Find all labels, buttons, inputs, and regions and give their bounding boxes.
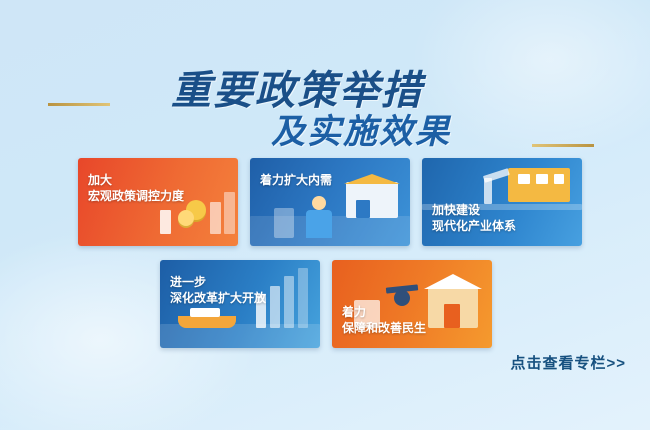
cards-row-top: 加大 宏观政策调控力度 着力扩大内需 加快建设 现代化产业体系 xyxy=(78,158,582,246)
robot-arm-art xyxy=(483,168,510,183)
policy-card-livelihood[interactable]: 着力 保障和改善民生 xyxy=(332,260,492,348)
window-art xyxy=(554,174,564,184)
policy-banner: 重要政策举措 及实施效果 加大 宏观政策调控力度 着力扩大内需 xyxy=(0,0,650,430)
ship-hull-art xyxy=(178,316,236,328)
banner-title: 重要政策举措 及实施效果 xyxy=(0,58,650,153)
policy-card-label: 进一步 深化改革扩大开放 xyxy=(170,274,266,306)
policy-card-reform-opening[interactable]: 进一步 深化改革扩大开放 xyxy=(160,260,320,348)
roof-art xyxy=(424,274,482,289)
policy-card-label: 着力扩大内需 xyxy=(260,172,332,188)
policy-card-expand-demand[interactable]: 着力扩大内需 xyxy=(250,158,410,246)
cards-row-bottom: 进一步 深化改革扩大开放 着力 保障和改善民生 xyxy=(160,260,492,348)
cart-art xyxy=(274,208,294,238)
person-head-art xyxy=(312,196,326,210)
policy-card-modern-industry[interactable]: 加快建设 现代化产业体系 xyxy=(422,158,582,246)
title-line-2: 及实施效果 xyxy=(36,104,650,153)
view-column-link[interactable]: 点击查看专栏>> xyxy=(510,352,626,373)
bar-chart-art xyxy=(270,286,280,328)
window-art xyxy=(518,174,530,184)
door-art xyxy=(356,200,370,218)
bar-chart-art xyxy=(224,192,235,234)
bar-chart-art xyxy=(284,276,294,328)
policy-card-macro-control[interactable]: 加大 宏观政策调控力度 xyxy=(78,158,238,246)
coin-icon xyxy=(178,210,194,226)
bar-chart-art xyxy=(298,268,308,328)
storefront-art xyxy=(346,182,398,218)
bar-chart-art xyxy=(210,202,221,234)
policy-card-label: 着力 保障和改善民生 xyxy=(342,304,426,336)
bar-chart-art xyxy=(160,210,171,234)
ship-cabin-art xyxy=(190,308,220,317)
window-art xyxy=(536,174,548,184)
person-body-art xyxy=(306,210,332,238)
awning-art xyxy=(344,174,400,184)
policy-card-label: 加大 宏观政策调控力度 xyxy=(88,172,184,204)
door-art xyxy=(444,304,460,328)
policy-card-label: 加快建设 现代化产业体系 xyxy=(432,202,516,234)
